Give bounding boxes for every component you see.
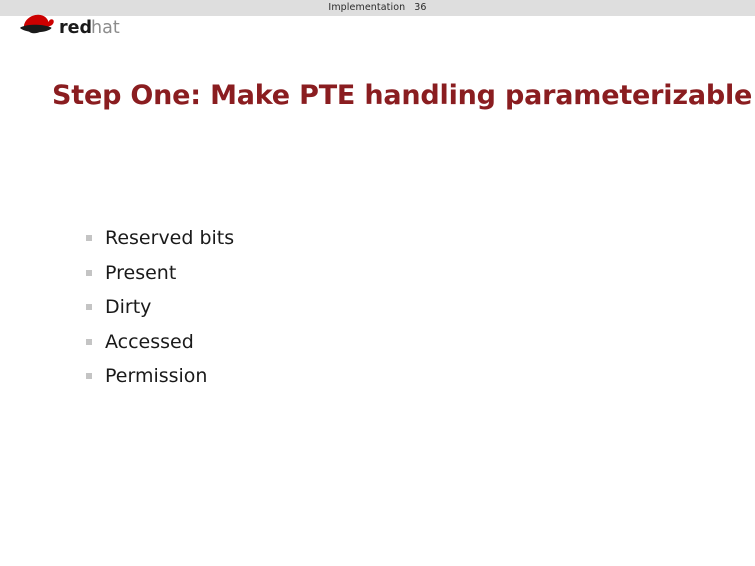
redhat-wordmark-bold: red	[59, 18, 92, 38]
header-page-number: 36	[414, 2, 426, 13]
list-item-label: Dirty	[105, 293, 151, 321]
square-bullet-icon	[86, 270, 92, 276]
list-item-label: Permission	[105, 362, 207, 390]
shadowman-hat-icon	[20, 15, 54, 33]
square-bullet-icon	[86, 339, 92, 345]
list-item: Present	[86, 259, 646, 294]
list-item: Accessed	[86, 328, 646, 363]
list-item-label: Present	[105, 259, 176, 287]
header-section-name: Implementation	[328, 2, 405, 13]
list-item: Dirty	[86, 293, 646, 328]
presentation-slide: Implementation36 red hat Step One: Make …	[0, 0, 755, 566]
square-bullet-icon	[86, 235, 92, 241]
bullet-list: Reserved bits Present Dirty Accessed Per…	[86, 224, 646, 397]
slide-title: Step One: Make PTE handling parameteriza…	[52, 78, 732, 114]
list-item: Permission	[86, 362, 646, 397]
redhat-logo: red hat	[18, 12, 126, 38]
square-bullet-icon	[86, 304, 92, 310]
list-item-label: Reserved bits	[105, 224, 234, 252]
list-item-label: Accessed	[105, 328, 194, 356]
square-bullet-icon	[86, 373, 92, 379]
list-item: Reserved bits	[86, 224, 646, 259]
redhat-wordmark-light: hat	[91, 18, 120, 38]
redhat-logo-svg: red hat	[18, 12, 126, 38]
